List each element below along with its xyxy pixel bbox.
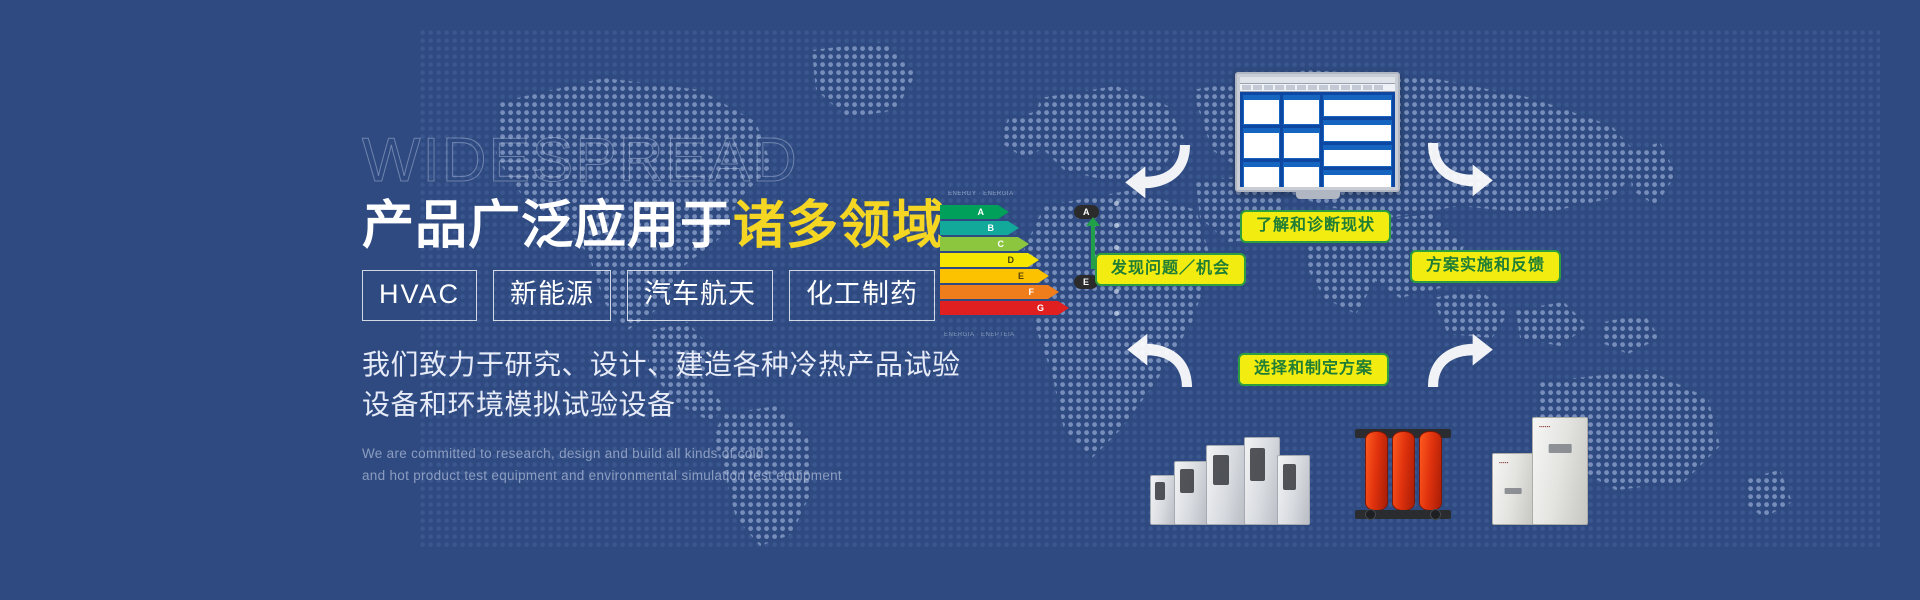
window-panel	[1243, 162, 1280, 187]
drive-unit	[1174, 461, 1208, 525]
description-en-line-2: and hot product test equipment and envir…	[362, 465, 982, 487]
transformer-base	[1355, 510, 1451, 519]
ghost-title: WIDESPREAD	[362, 130, 982, 192]
page-title: 产品广泛应用于诸多领域	[362, 198, 982, 254]
description-chinese: 我们致力于研究、设计、建造各种冷热产品试验 设备和环境模拟试验设备	[362, 345, 982, 425]
window-panel	[1283, 162, 1320, 187]
drive-unit	[1277, 455, 1310, 525]
energy-efficiency-label: ENERGY · ENERGIA A B C D E F G A E ENERG…	[940, 205, 1080, 325]
cycle-step-discover[interactable]: 发现问题／机会	[1095, 253, 1246, 286]
energy-bar-list: A B C D E F G	[940, 205, 1062, 315]
curved-arrow-icon-bottom-left	[1120, 328, 1192, 400]
energy-bar-e: E	[940, 269, 1038, 283]
energy-bar-c: C	[940, 237, 1018, 251]
hero-text-column: WIDESPREAD 产品广泛应用于诸多领域 HVAC 新能源 汽车航天 化工制…	[362, 130, 982, 486]
industry-tag-automotive-aerospace[interactable]: 汽车航天	[627, 270, 773, 321]
cabinet-brand-mark: ▪▪▪▪▪	[1499, 460, 1508, 465]
description-cn-line-2: 设备和环境模拟试验设备	[362, 385, 982, 425]
process-cycle-diagram: 了解和诊断现状 发现问题／机会 方案实施和反馈 选择和制定方案	[1110, 60, 1610, 440]
curved-arrow-icon-top-left	[1118, 132, 1190, 204]
window-panel	[1243, 95, 1280, 125]
transformer-wheel	[1430, 509, 1441, 520]
product-group-cabinets: ▪▪▪▪▪ ▪▪▪▪▪▪	[1492, 417, 1590, 525]
industry-tag-new-energy[interactable]: 新能源	[493, 270, 611, 321]
energy-label-caption-top: ENERGY · ENERGIA	[948, 191, 1014, 197]
window-left-panels	[1243, 95, 1320, 187]
window-right-panels	[1323, 95, 1392, 187]
energy-bar-d: D	[940, 253, 1028, 267]
energy-bar-a: A	[940, 205, 998, 219]
energy-bar-g: G	[940, 301, 1058, 315]
headline-yellow: 诸多领域	[733, 197, 945, 255]
drive-unit	[1150, 475, 1176, 525]
window-panel	[1323, 120, 1392, 142]
cabinet-vent	[1505, 488, 1522, 494]
monitor-screen	[1240, 77, 1395, 187]
transformer-wheel	[1365, 509, 1376, 520]
headline-white: 产品广泛应用于	[362, 197, 733, 255]
transformer-coil	[1365, 431, 1388, 511]
transformer-coils	[1359, 431, 1447, 511]
transformer-coil	[1392, 431, 1415, 511]
cabinet-brand-mark: ▪▪▪▪▪▪	[1539, 424, 1550, 429]
product-group-drives	[1150, 433, 1310, 525]
industry-tag-chemical-pharma[interactable]: 化工制药	[789, 270, 935, 321]
cycle-step-diagnose[interactable]: 了解和诊断现状	[1240, 210, 1391, 243]
window-panel	[1323, 145, 1392, 167]
cycle-step-plan[interactable]: 选择和制定方案	[1238, 353, 1389, 386]
window-titlebar	[1240, 77, 1395, 84]
window-body	[1240, 92, 1395, 187]
description-english: We are committed to research, design and…	[362, 443, 982, 487]
window-panel	[1323, 95, 1392, 117]
window-panel	[1283, 95, 1320, 125]
control-cabinet-small: ▪▪▪▪▪	[1492, 453, 1534, 525]
product-photo-row: ▪▪▪▪▪ ▪▪▪▪▪▪	[1140, 405, 1560, 525]
monitor-stand	[1296, 190, 1340, 199]
curved-arrow-icon-top-right	[1428, 130, 1500, 202]
cycle-step-implement[interactable]: 方案实施和反馈	[1410, 250, 1561, 283]
transformer-coil	[1419, 431, 1442, 511]
description-en-line-1: We are committed to research, design and…	[362, 443, 982, 465]
drive-unit	[1244, 437, 1280, 525]
energy-bar-b: B	[940, 221, 1008, 235]
description-cn-line-1: 我们致力于研究、设计、建造各种冷热产品试验	[362, 345, 982, 385]
window-panel	[1323, 170, 1392, 187]
product-group-transformer	[1355, 425, 1451, 525]
hero-banner: WIDESPREAD 产品广泛应用于诸多领域 HVAC 新能源 汽车航天 化工制…	[0, 0, 1920, 600]
window-panel	[1243, 128, 1280, 158]
industry-tag-list: HVAC 新能源 汽车航天 化工制药	[362, 270, 982, 321]
control-cabinet-large: ▪▪▪▪▪▪	[1532, 417, 1588, 525]
software-monitor-illustration	[1235, 72, 1400, 192]
cabinet-vent	[1549, 444, 1572, 453]
window-toolbar	[1240, 84, 1395, 92]
energy-bar-f: F	[940, 285, 1048, 299]
window-panel	[1283, 128, 1320, 158]
curved-arrow-icon-bottom-right	[1428, 328, 1500, 400]
drive-unit	[1206, 445, 1246, 525]
energy-label-caption-bottom: ENERGIA · ENEPTEIA	[944, 332, 1015, 338]
industry-tag-hvac[interactable]: HVAC	[362, 270, 477, 321]
